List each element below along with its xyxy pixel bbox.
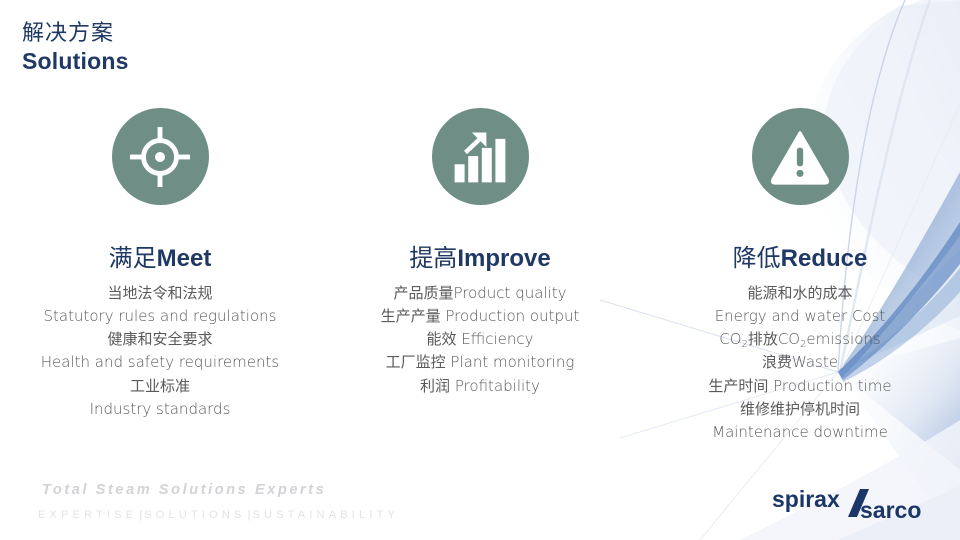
solution-column-meet: 满足Meet 当地法令和法规 Statutory rules and regul… — [0, 108, 320, 421]
list-item: Maintenance downtime — [708, 421, 891, 444]
spirax-sarco-logo-mark: spirax sarco — [772, 487, 944, 527]
column-heading-cn: 提高 — [409, 244, 457, 272]
slide-canvas: 解决方案 Solutions 满足Meet — [0, 0, 960, 540]
list-item: 生产时间 Production time — [708, 375, 891, 398]
list-item: 工业标准 — [41, 375, 279, 398]
solution-column-reduce: 降低Reduce 能源和水的成本 Energy and water Cost C… — [640, 108, 960, 444]
column-heading-cn: 降低 — [733, 244, 781, 272]
list-item: 生产产量 Production output — [381, 305, 580, 328]
column-lines-reduce: 能源和水的成本 Energy and water Cost CO2排放CO2em… — [708, 282, 891, 445]
warning-triangle-icon — [770, 127, 830, 187]
footer-pillar-sustainability: SUSTAINABILITY — [252, 509, 399, 521]
list-item-co2: CO2排放CO2emissions — [708, 328, 891, 351]
page-title-english: Solutions — [22, 49, 129, 75]
solutions-columns: 满足Meet 当地法令和法规 Statutory rules and regul… — [0, 108, 960, 444]
footer-pillars: EXPERTISE|SOLUTIONS|SUSTAINABILITY — [38, 509, 399, 521]
footer-pillar-solutions: SOLUTIONS — [144, 509, 245, 521]
list-item: 产品质量Product quality — [381, 282, 580, 305]
list-item: 利润 Profitability — [381, 375, 580, 398]
warning-triangle-icon-circle — [752, 108, 849, 205]
page-title-chinese: 解决方案 — [22, 22, 129, 47]
list-item: 工厂监控 Plant monitoring — [381, 351, 580, 374]
logo-word-sarco: sarco — [860, 497, 921, 523]
list-item: 当地法令和法规 — [41, 282, 279, 305]
footer-tagline: Total Steam Solutions Experts — [42, 482, 326, 498]
solution-column-improve: 提高Improve 产品质量Product quality 生产产量 Produ… — [320, 108, 640, 398]
column-heading-reduce: 降低Reduce — [733, 245, 868, 273]
target-icon-circle — [112, 108, 209, 205]
bar-chart-growth-icon-circle — [432, 108, 529, 205]
column-heading-en: Meet — [157, 245, 212, 272]
column-heading-en: Improve — [457, 245, 550, 272]
column-heading-en: Reduce — [781, 245, 868, 272]
list-item: 能效 Efficiency — [381, 328, 580, 351]
column-lines-meet: 当地法令和法规 Statutory rules and regulations … — [41, 282, 279, 422]
page-title: 解决方案 Solutions — [22, 22, 129, 74]
list-item: Health and safety requirements — [41, 351, 279, 374]
column-lines-improve: 产品质量Product quality 生产产量 Production outp… — [381, 282, 580, 398]
spirax-sarco-logo: spirax sarco — [772, 487, 944, 527]
list-item: Energy and water Cost — [708, 305, 891, 328]
column-heading-cn: 满足 — [109, 244, 157, 272]
list-item: Industry standards — [41, 398, 279, 421]
target-icon — [129, 126, 191, 188]
list-item: Statutory rules and regulations — [41, 305, 279, 328]
list-item: 浪费Waste — [708, 351, 891, 374]
logo-word-spirax: spirax — [772, 487, 840, 512]
list-item: 维修维护停机时间 — [708, 398, 891, 421]
list-item: 能源和水的成本 — [708, 282, 891, 305]
column-heading-meet: 满足Meet — [109, 245, 212, 273]
bar-chart-growth-icon — [451, 128, 509, 186]
footer-pillar-expertise: EXPERTISE — [38, 509, 137, 521]
column-heading-improve: 提高Improve — [409, 245, 550, 273]
list-item: 健康和安全要求 — [41, 328, 279, 351]
